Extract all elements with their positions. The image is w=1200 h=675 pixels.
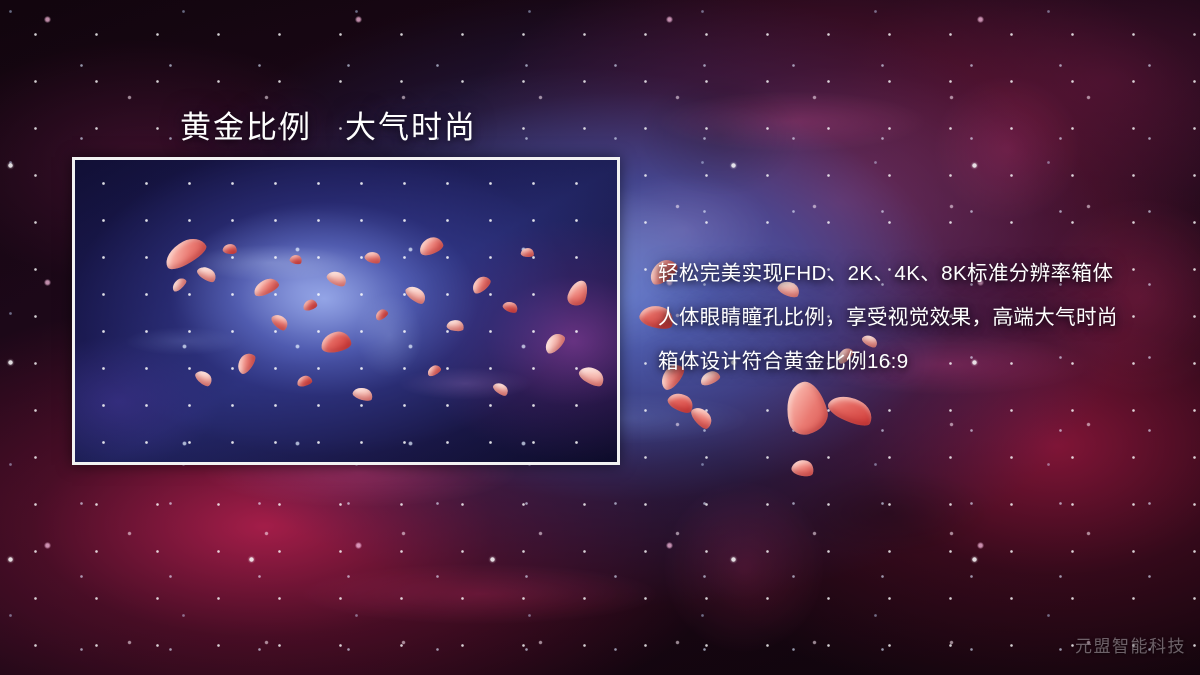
rose-petal [577, 362, 608, 389]
feature-line-2: 人体眼睛瞳孔比例，享受视觉效果，高端大气时尚 [658, 296, 1158, 340]
rose-petal [160, 233, 209, 273]
rose-petal [296, 375, 313, 388]
rose-petal-shape [160, 233, 209, 273]
rose-petal [193, 367, 214, 388]
rose-petal [325, 268, 349, 289]
rose-petal-shape [170, 276, 188, 293]
company-watermark: 元盟智能科技 [1075, 632, 1186, 657]
rose-petal [502, 299, 520, 315]
rose-petal-shape [577, 362, 608, 389]
rose-petal [270, 311, 291, 332]
rose-petal [520, 247, 534, 258]
rose-petal-shape [426, 363, 443, 377]
rose-petal [320, 330, 352, 354]
rose-petal [374, 307, 390, 321]
rose-petal-shape [374, 307, 390, 321]
feature-description: 轻松完美实现FHD、2K、4K、8K标准分辨率箱体 人体眼睛瞳孔比例，享受视觉效… [658, 252, 1158, 384]
rose-petal-shape [520, 247, 534, 258]
rose-petal-shape [541, 330, 567, 356]
rose-petal-shape [502, 299, 520, 315]
rose-petal [352, 385, 375, 403]
rose-petal-shape [565, 278, 590, 308]
rose-petal [302, 298, 318, 311]
rose-petal [426, 363, 443, 377]
rose-petal [469, 273, 493, 295]
slide-canvas: 黄金比例 大气时尚 轻松完美实现FHD、2K、4K、8K标准分辨率箱体 人体眼睛… [0, 0, 1200, 675]
rose-petal [234, 350, 259, 376]
rose-petal [403, 282, 428, 306]
rose-petal-shape [469, 273, 493, 295]
rose-petal-shape [492, 380, 511, 398]
rose-petal-shape [325, 268, 349, 289]
feature-line-3: 箱体设计符合黄金比例16:9 [658, 340, 1158, 384]
rose-petal-shape [320, 330, 352, 354]
rose-petal-shape [251, 276, 280, 299]
rose-petal-shape [364, 249, 383, 265]
framed-petal-group [75, 160, 617, 462]
rose-petal-shape [195, 263, 218, 284]
rose-petal-shape [270, 311, 291, 332]
rose-petal [222, 243, 238, 255]
rose-petal-shape [302, 298, 318, 311]
slide-title: 黄金比例 大气时尚 [180, 102, 477, 147]
rose-petal [170, 276, 188, 293]
rose-petal [364, 249, 383, 265]
rose-petal-shape [296, 375, 313, 388]
rose-petal-shape [222, 243, 238, 255]
rose-petal-shape [352, 385, 375, 403]
framed-image-panel [72, 157, 620, 465]
rose-petal-shape [289, 253, 303, 265]
rose-petal-shape [234, 350, 259, 376]
rose-petal [492, 380, 511, 398]
rose-petal-shape [193, 367, 214, 388]
rose-petal [446, 318, 465, 332]
rose-petal [541, 330, 567, 356]
rose-petal-shape [446, 318, 465, 332]
feature-line-1: 轻松完美实现FHD、2K、4K、8K标准分辨率箱体 [658, 252, 1158, 296]
rose-petal-shape [417, 235, 445, 258]
rose-petal [195, 263, 218, 284]
rose-petal [565, 278, 590, 308]
rose-petal [289, 253, 303, 265]
rose-petal [251, 276, 280, 299]
rose-petal [417, 235, 445, 258]
rose-petal-shape [403, 282, 428, 306]
